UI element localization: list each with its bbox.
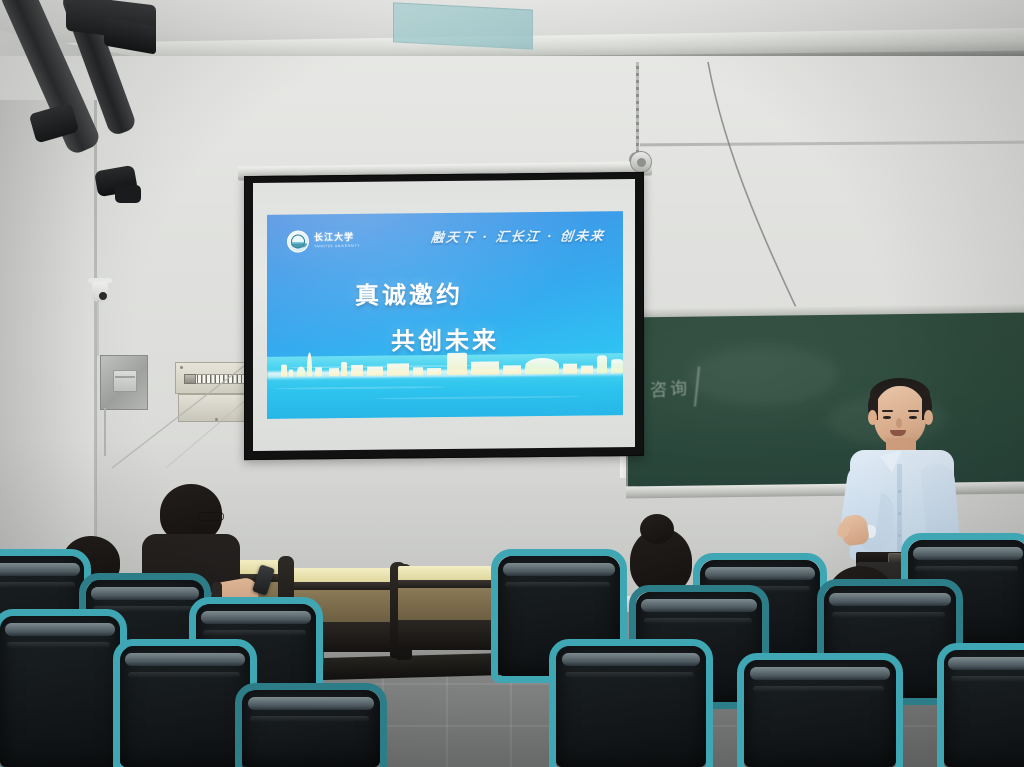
presenter-ear [868, 410, 877, 425]
skyline-building [341, 362, 347, 376]
shirt-button [898, 512, 901, 515]
hair-bun [640, 514, 674, 544]
seat-highlight [0, 582, 75, 588]
presenter-nose [896, 418, 902, 428]
lecture-seat[interactable] [944, 650, 1024, 767]
skyline-building [289, 370, 293, 377]
logo-name-cn: 长江大学 [314, 234, 360, 243]
seat-headrest [5, 623, 115, 636]
slide-headline-line1: 真诚邀约 [355, 275, 463, 311]
logo-wave-icon [291, 243, 307, 247]
skyline-building [307, 352, 312, 376]
presenter-eye [909, 416, 917, 419]
skyline-building [503, 365, 521, 374]
seat-highlight [128, 672, 240, 678]
skyline-building [597, 355, 607, 373]
lecture-seat[interactable] [556, 646, 706, 767]
desk-edge [276, 582, 404, 590]
slide-tagline: 融天下 · 汇长江 · 创未来 [430, 225, 606, 246]
seat-headrest [503, 563, 615, 576]
presenter-head [874, 386, 926, 446]
seat-headrest [562, 653, 700, 666]
university-logo: 长江大学 YANGTZE UNIVERSITY [287, 230, 360, 253]
lecture-seat[interactable] [744, 660, 896, 767]
lecture-seat[interactable] [120, 646, 250, 767]
ceiling-glass-panel [393, 2, 533, 49]
projector-bracket-tip [115, 185, 141, 203]
seat-headrest [641, 599, 757, 612]
logo-emblem-icon [287, 230, 309, 252]
seat-headrest [913, 547, 1023, 560]
blackboard-chalk-text: 咨询 [649, 374, 690, 402]
ceiling-projector-mount [8, 0, 188, 210]
seat-highlight [753, 686, 884, 692]
skyline-building [611, 359, 623, 373]
utility-box-conduit [104, 408, 106, 456]
skyline-building [471, 361, 499, 374]
hanging-chain [636, 62, 639, 158]
seat-headrest [201, 611, 311, 624]
lecture-seat[interactable] [0, 616, 120, 767]
skyline-building [329, 368, 339, 376]
seat-highlight [203, 630, 306, 636]
shirt-button [898, 534, 901, 537]
seat-highlight [832, 612, 946, 618]
skyline-building [563, 364, 577, 374]
skyline-building [315, 367, 322, 376]
lecture-hall-photo: 咨询 长江大学 YANGTZE UNIVERSITY [0, 0, 1024, 767]
seat-headrest [750, 667, 890, 680]
screen-surface: 长江大学 YANGTZE UNIVERSITY 融天下 · 汇长江 · 创未来 … [253, 179, 635, 451]
presentation-slide: 长江大学 YANGTZE UNIVERSITY 融天下 · 汇长江 · 创未来 … [267, 211, 623, 419]
skyline-building [413, 367, 423, 375]
skyline-building [581, 365, 593, 373]
skyline-building [281, 365, 287, 377]
seat-headrest [829, 593, 950, 606]
slide-city-skyline [267, 339, 623, 377]
seat-highlight [644, 618, 752, 624]
camera-cable [97, 300, 99, 356]
screen-roller-end-cap [630, 151, 652, 173]
logo-name-en: YANGTZE UNIVERSITY [314, 245, 360, 249]
seat-highlight [505, 582, 610, 588]
chalk-smudge [688, 345, 838, 407]
seat-headrest [248, 697, 375, 710]
seat-highlight [565, 672, 694, 678]
presenter-ear [924, 410, 933, 425]
presenter-eye [883, 416, 891, 419]
skyline-building [525, 358, 559, 374]
skyline-building [351, 365, 363, 376]
shirt-button [898, 490, 901, 493]
seat-headrest [91, 587, 200, 600]
seat-headrest [0, 563, 80, 576]
skyline-building [447, 353, 467, 375]
skyline-building [367, 367, 383, 376]
seat-headrest [948, 657, 1024, 670]
seat-backrest [0, 616, 120, 767]
logo-wordmark: 长江大学 YANGTZE UNIVERSITY [314, 234, 360, 249]
seat-highlight [7, 642, 110, 648]
skyline-building [427, 368, 441, 375]
lecture-seat[interactable] [242, 690, 380, 767]
seat-highlight [250, 716, 369, 722]
seat-headrest [705, 567, 815, 580]
skyline-building [387, 363, 409, 375]
seat-highlight [915, 566, 1018, 572]
glasses-icon [198, 512, 224, 521]
seat-highlight [951, 676, 1024, 682]
presenter-brow [908, 410, 919, 412]
camera-lens-icon [99, 292, 107, 300]
presenter-brow [882, 410, 893, 412]
seat-headrest [125, 653, 245, 666]
skyline-building [297, 366, 305, 376]
projection-screen: 长江大学 YANGTZE UNIVERSITY 融天下 · 汇长江 · 创未来 … [244, 172, 644, 460]
